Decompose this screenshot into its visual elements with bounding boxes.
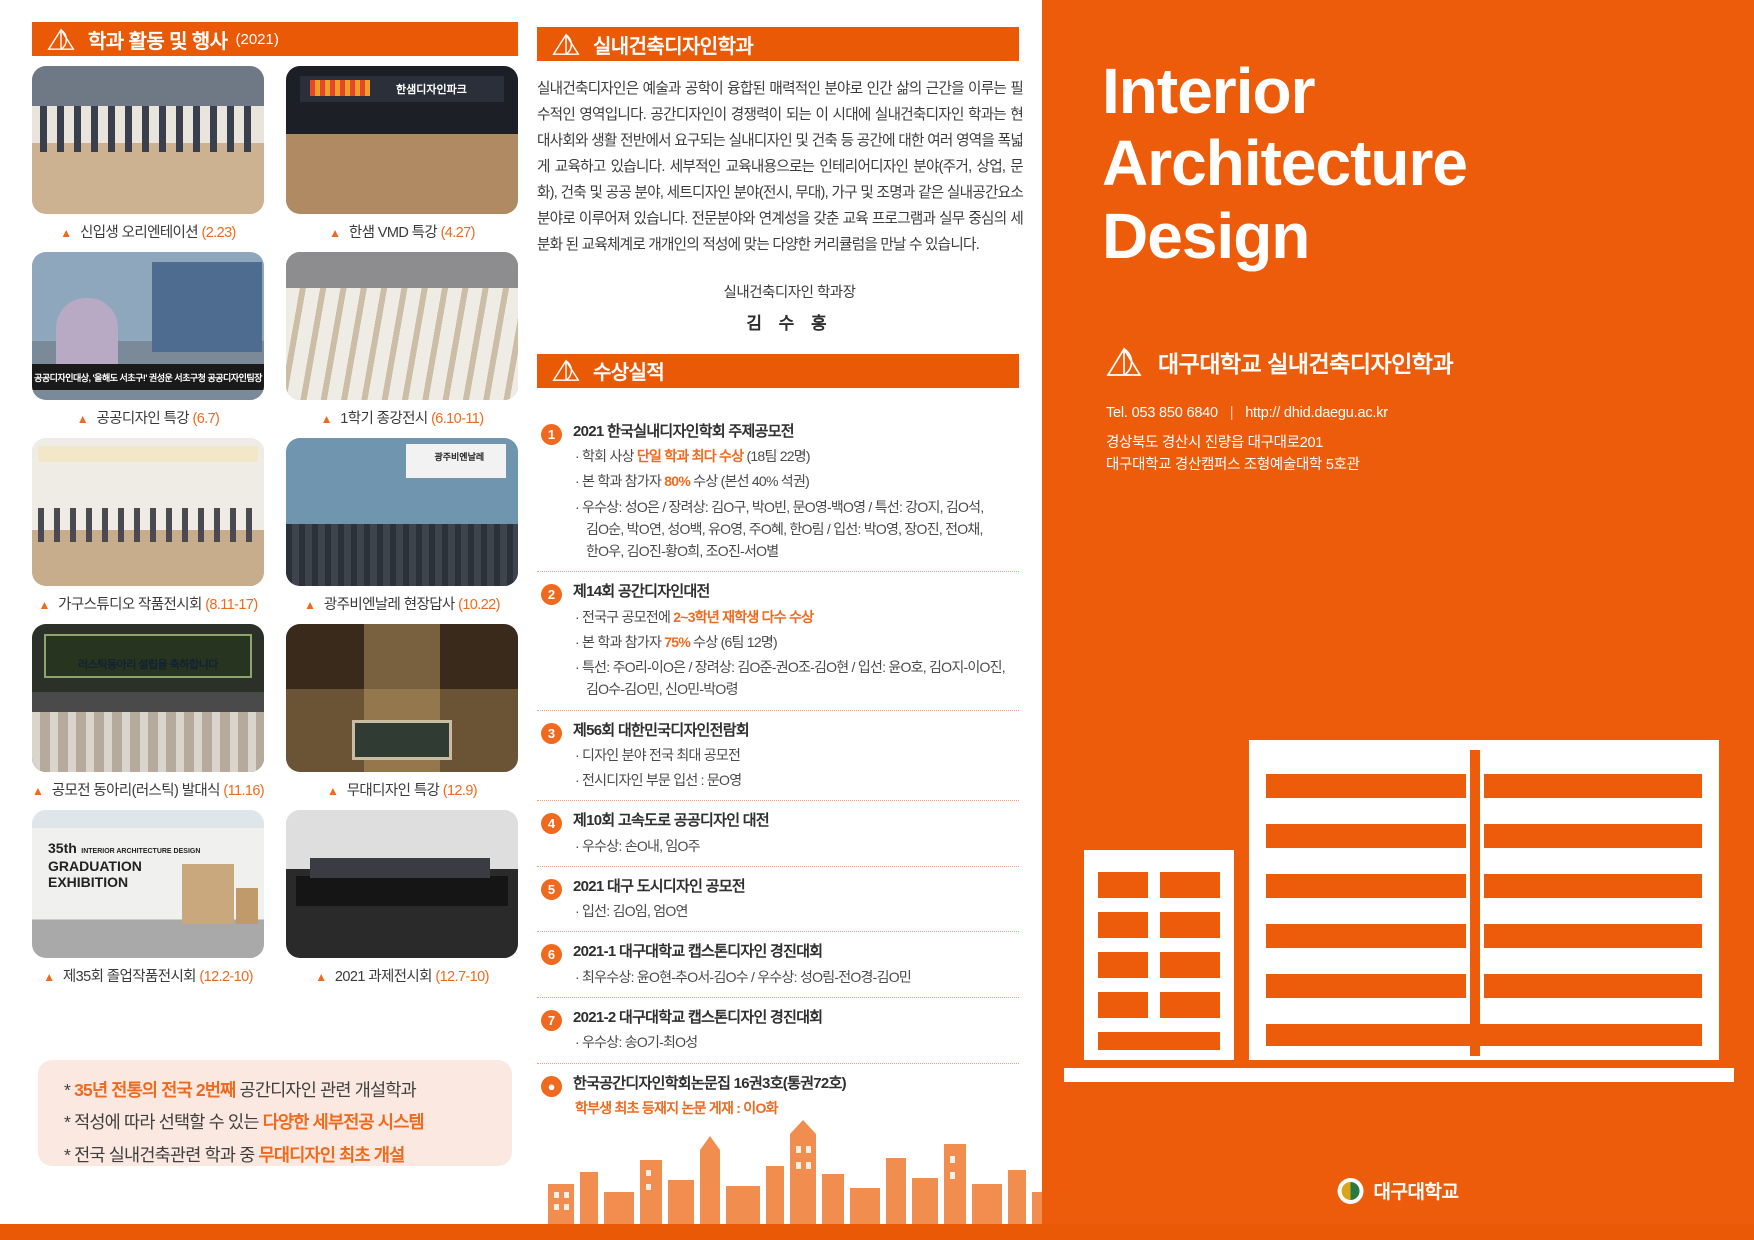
- activity-photo: 광주비엔날레: [286, 438, 518, 586]
- award-text-segment: · 본 학과 참가자: [575, 473, 664, 489]
- award-item: 2 제14회 공간디자인대전 · 전국구 공모전에 2~3학년 재학생 다수 수…: [537, 572, 1019, 710]
- award-text-segment: · 본 학과 참가자: [575, 634, 664, 650]
- activity-caption-text: 공모전 동아리(러스틱) 발대식: [52, 783, 220, 799]
- award-text-segment: (18팀 22명): [743, 448, 810, 464]
- activity-photo: [286, 810, 518, 958]
- award-detail-line: · 우수상: 성O은 / 장려상: 김O구, 박O빈, 문O영-백O영 / 특선…: [573, 497, 1019, 518]
- cover-department-label: 대구대학교 실내건축디자인학과: [1158, 345, 1453, 379]
- awards-header-bar: 수상실적: [537, 354, 1019, 388]
- activity-caption: ▲ 무대디자인 특강 (12.9): [286, 779, 518, 800]
- building-illustration: [1054, 700, 1754, 1120]
- contact-separator: |: [1222, 405, 1242, 421]
- activity-cell: 35th INTERIOR ARCHITECTURE DESIGN GRADUA…: [32, 810, 264, 986]
- award-title: 2021 한국실내디자인학회 주제공모전: [573, 422, 1019, 442]
- award-detail-line: · 디자인 분야 전국 최대 공모전: [573, 745, 1019, 766]
- awards-title: 수상실적: [593, 356, 664, 385]
- award-body: 한국공간디자인학회논문집 16권3호(통권72호) 학부생 최초 등재지 논문 …: [573, 1074, 1019, 1120]
- award-body: 2021-2 대구대학교 캡스톤디자인 경진대회 · 우수상: 송O기-최O성: [573, 1008, 1019, 1054]
- address-line-1: 경상북도 경산시 진량읍 대구대로201: [1106, 432, 1726, 454]
- award-text-segment: · 특선: 주O리-이O은 / 장려상: 김O준-권O조-김O현 / 입선: 윤…: [575, 659, 1005, 675]
- activity-caption-text: 광주비엔날레 현장답사: [324, 597, 455, 613]
- activity-date: (4.27): [441, 225, 475, 241]
- award-text-segment: 2~3학년 재학생 다수 수상: [673, 609, 813, 625]
- activity-cell: ▲ 무대디자인 특강 (12.9): [286, 624, 518, 800]
- award-title: 2021 대구 도시디자인 공모전: [573, 877, 1019, 897]
- triangle-bullet-icon: ▲: [43, 970, 54, 984]
- activity-photo: [32, 66, 264, 214]
- triangle-bullet-icon: ▲: [32, 784, 43, 798]
- cover-title: Interior Architecture Design: [1102, 55, 1722, 272]
- cover-address: 경상북도 경산시 진량읍 대구대로201 대구대학교 경산캠퍼스 조형예술대학 …: [1106, 432, 1726, 477]
- activity-cell: 한샘디자인파크 ▲ 한샘 VMD 특강 (4.27): [286, 66, 518, 242]
- news-overlay-caption: 공공디자인대상, '올해도 서초구!' 권성운 서초구청 공공디자인팀장: [32, 364, 264, 390]
- university-seal-icon: [1338, 1178, 1364, 1204]
- department-intro: 실내건축디자인은 예술과 공학이 융합된 매력적인 분야로 인간 삶의 근간을 …: [537, 77, 1023, 259]
- triangle-bullet-icon: ▲: [38, 598, 49, 612]
- award-text-segment: 수상 (본선 40% 석권): [690, 473, 809, 489]
- awards-list: 1 2021 한국실내디자인학회 주제공모전 · 학회 사상 단일 학과 최다 …: [537, 412, 1019, 1128]
- award-text-segment: · 우수상: 성O은 / 장려상: 김O구, 박O빈, 문O영-백O영 / 특선…: [575, 499, 983, 515]
- cover-panel: Interior Architecture Design 대구대학교 실내건축디…: [1042, 0, 1754, 1240]
- triangle-bullet-icon: ▲: [321, 412, 332, 426]
- activity-date: (6.7): [192, 411, 219, 427]
- award-text-segment: 단일 학과 최다 수상: [637, 448, 743, 464]
- triangle-logo-icon: [551, 33, 581, 56]
- brochure-page: 학과 활동 및 행사 (2021) ▲ 신입생 오리엔테이션 (2.23) 한샘…: [0, 0, 1754, 1240]
- award-detail-line: · 우수상: 손O내, 임O주: [573, 836, 1019, 857]
- award-text-segment: · 입선: 김O임, 엄O연: [575, 903, 688, 919]
- activity-date: (10.22): [458, 597, 500, 613]
- club-banner-text: 러스틱동아리 설립을 축하합니다: [32, 656, 264, 672]
- award-text-segment: · 우수상: 손O내, 임O주: [575, 838, 700, 854]
- triangle-bullet-icon: ▲: [60, 226, 71, 240]
- award-number-badge: 4: [541, 813, 562, 834]
- award-detail-line: · 최우수상: 윤O현-추O서-김O수 / 우수상: 성O림-전O경-김O민: [573, 967, 1019, 988]
- award-title: 제56회 대한민국디자인전람회: [573, 721, 1019, 741]
- award-text-segment: · 학회 사상: [575, 448, 637, 464]
- activity-photo: [32, 438, 264, 586]
- highlight-line: * 35년 전통의 전국 2번째 공간디자인 관련 개설학과: [64, 1074, 502, 1106]
- award-body: 제10회 고속도로 공공디자인 대전 · 우수상: 손O내, 임O주: [573, 811, 1019, 857]
- highlight-line: * 전국 실내건축관련 학과 중 무대디자인 최초 개설: [64, 1139, 502, 1171]
- award-body: 제14회 공간디자인대전 · 전국구 공모전에 2~3학년 재학생 다수 수상·…: [573, 582, 1019, 700]
- highlight-prefix: * 전국 실내건축관련 학과 중: [64, 1145, 259, 1165]
- activity-cell: ▲ 가구스튜디오 작품전시회 (8.11-17): [32, 438, 264, 614]
- triangle-bullet-icon: ▲: [329, 226, 340, 240]
- bottom-accent-strip: [0, 1224, 1754, 1240]
- highlight-line: * 적성에 따라 선택할 수 있는 다양한 세부전공 시스템: [64, 1106, 502, 1138]
- highlights-box: * 35년 전통의 전국 2번째 공간디자인 관련 개설학과* 적성에 따라 선…: [38, 1060, 512, 1166]
- award-number-badge: 2: [541, 584, 562, 605]
- activity-caption-text: 한샘 VMD 특강: [349, 225, 437, 241]
- activity-photo: 한샘디자인파크: [286, 66, 518, 214]
- activity-cell: ▲ 1학기 종강전시 (6.10-11): [286, 252, 518, 428]
- activity-date: (6.10-11): [431, 411, 483, 427]
- cover-title-line-2: Architecture: [1102, 127, 1722, 199]
- activity-caption-text: 공공디자인 특강: [96, 411, 189, 427]
- award-text-segment: 김O순, 박O연, 성O백, 유O영, 주O혜, 한O림 / 입선: 박O영, …: [586, 521, 983, 537]
- activities-year: (2021): [235, 31, 278, 48]
- triangle-bullet-icon: ▲: [327, 784, 338, 798]
- activity-photo: [286, 624, 518, 772]
- activity-caption-text: 가구스튜디오 작품전시회: [58, 597, 202, 613]
- activity-date: (12.2-10): [199, 969, 252, 985]
- triangle-bullet-icon: ▲: [315, 970, 326, 984]
- award-detail-line: · 본 학과 참가자 75% 수상 (6팀 12명): [573, 632, 1019, 653]
- award-detail-line: · 전시디자인 부문 입선 : 문O영: [573, 770, 1019, 791]
- triangle-logo-icon: [1104, 347, 1144, 377]
- activity-caption-text: 제35회 졸업작품전시회: [63, 969, 196, 985]
- award-title: 제10회 고속도로 공공디자인 대전: [573, 811, 1019, 831]
- activity-date: (11.16): [223, 783, 264, 799]
- university-logo: 대구대학교: [1338, 1177, 1459, 1204]
- award-body: 2021 대구 도시디자인 공모전 · 입선: 김O임, 엄O연: [573, 877, 1019, 923]
- award-body: 2021 한국실내디자인학회 주제공모전 · 학회 사상 단일 학과 최다 수상…: [573, 422, 1019, 563]
- highlight-prefix: *: [64, 1080, 74, 1100]
- tel-value: 053 850 6840: [1132, 405, 1218, 421]
- award-number-badge: 5: [541, 879, 562, 900]
- activity-date: (8.11-17): [205, 597, 257, 613]
- award-number-badge: 3: [541, 723, 562, 744]
- tel-label: Tel.: [1106, 405, 1128, 421]
- address-line-2: 대구대학교 경산캠퍼스 조형예술대학 5호관: [1106, 454, 1726, 476]
- activity-caption: ▲ 2021 과제전시회 (12.7-10): [286, 965, 518, 986]
- award-text-segment: · 디자인 분야 전국 최대 공모전: [575, 747, 740, 763]
- award-title: 2021-2 대구대학교 캡스톤디자인 경진대회: [573, 1008, 1019, 1028]
- award-number-badge: ●: [541, 1076, 562, 1097]
- activity-caption-text: 1학기 종강전시: [340, 411, 427, 427]
- highlight-emphasis: 다양한 세부전공 시스템: [263, 1112, 424, 1132]
- activities-header-bar: 학과 활동 및 행사 (2021): [32, 22, 518, 56]
- highlight-prefix: * 적성에 따라 선택할 수 있는: [64, 1112, 263, 1132]
- activity-caption: ▲ 1학기 종강전시 (6.10-11): [286, 407, 518, 428]
- award-detail-line: · 입선: 김O임, 엄O연: [573, 901, 1019, 922]
- award-title: 제14회 공간디자인대전: [573, 582, 1019, 602]
- dean-role: 실내건축디자인 학과장: [537, 281, 1042, 302]
- award-number-badge: 1: [541, 424, 562, 445]
- award-text-segment: · 최우수상: 윤O현-추O서-김O수 / 우수상: 성O림-전O경-김O민: [575, 969, 911, 985]
- activity-photo: 공공디자인대상, '올해도 서초구!' 권성운 서초구청 공공디자인팀장: [32, 252, 264, 400]
- activity-cell: 러스틱동아리 설립을 축하합니다 ▲ 공모전 동아리(러스틱) 발대식 (11.…: [32, 624, 264, 800]
- dean-signature: 실내건축디자인 학과장 김 수 홍: [537, 281, 1042, 334]
- biennale-sign-text: 광주비엔날레: [434, 450, 484, 463]
- triangle-bullet-icon: ▲: [77, 412, 88, 426]
- activity-date: (12.7-10): [435, 969, 488, 985]
- activity-caption: ▲ 광주비엔날레 현장답사 (10.22): [286, 593, 518, 614]
- activity-caption: ▲ 신입생 오리엔테이션 (2.23): [32, 221, 264, 242]
- award-detail-line: · 학회 사상 단일 학과 최다 수상 (18팀 22명): [573, 446, 1019, 467]
- activity-photo: 러스틱동아리 설립을 축하합니다: [32, 624, 264, 772]
- award-detail-line: 김O순, 박O연, 성O백, 유O영, 주O혜, 한O림 / 입선: 박O영, …: [573, 519, 1019, 540]
- award-body: 제56회 대한민국디자인전람회 · 디자인 분야 전국 최대 공모전· 전시디자…: [573, 721, 1019, 792]
- activity-caption-text: 2021 과제전시회: [335, 969, 432, 985]
- activity-photo: [286, 252, 518, 400]
- award-text-segment: 김O수-김O민, 신O민-박O령: [586, 681, 738, 697]
- department-column: 실내건축디자인학과 실내건축디자인은 예술과 공학이 융합된 매력적인 분야로 …: [537, 0, 1042, 1240]
- activity-date: (12.9): [443, 783, 477, 799]
- activities-column: 학과 활동 및 행사 (2021) ▲ 신입생 오리엔테이션 (2.23) 한샘…: [0, 0, 545, 1180]
- award-text-segment: 80%: [664, 473, 690, 489]
- award-detail-line: 김O수-김O민, 신O민-박O령: [573, 679, 1019, 700]
- activity-caption: ▲ 제35회 졸업작품전시회 (12.2-10): [32, 965, 264, 986]
- activities-title: 학과 활동 및 행사: [88, 25, 227, 54]
- activity-cell: 광주비엔날레 ▲ 광주비엔날레 현장답사 (10.22): [286, 438, 518, 614]
- triangle-logo-icon: [551, 359, 581, 382]
- cover-title-line-3: Design: [1102, 200, 1722, 272]
- award-text-segment: · 전국구 공모전에: [575, 609, 673, 625]
- dean-name: 김 수 홍: [537, 309, 1042, 334]
- award-detail-line: · 전국구 공모전에 2~3학년 재학생 다수 수상: [573, 607, 1019, 628]
- cover-title-line-1: Interior: [1102, 55, 1722, 127]
- activity-caption: ▲ 공공디자인 특강 (6.7): [32, 407, 264, 428]
- award-detail-line: · 본 학과 참가자 80% 수상 (본선 40% 석권): [573, 471, 1019, 492]
- activity-date: (2.23): [201, 225, 235, 241]
- award-text-segment: 수상 (6팀 12명): [690, 634, 777, 650]
- award-detail-line: · 특선: 주O리-이O은 / 장려상: 김O준-권O조-김O현 / 입선: 윤…: [573, 657, 1019, 678]
- award-item: 7 2021-2 대구대학교 캡스톤디자인 경진대회 · 우수상: 송O기-최O…: [537, 998, 1019, 1064]
- award-detail-line: 한O우, 김O진-황O희, 조O진-서O별: [573, 541, 1019, 562]
- activity-caption: ▲ 공모전 동아리(러스틱) 발대식 (11.16): [32, 779, 264, 800]
- activities-photo-grid: ▲ 신입생 오리엔테이션 (2.23) 한샘디자인파크 ▲ 한샘 VMD 특강 …: [32, 66, 518, 986]
- graduation-wall-text: 35th INTERIOR ARCHITECTURE DESIGN GRADUA…: [48, 840, 200, 891]
- award-title: 한국공간디자인학회논문집 16권3호(통권72호): [573, 1074, 1019, 1094]
- activity-caption: ▲ 가구스튜디오 작품전시회 (8.11-17): [32, 593, 264, 614]
- activity-cell: 공공디자인대상, '올해도 서초구!' 권성운 서초구청 공공디자인팀장 ▲ 공…: [32, 252, 264, 428]
- award-item: 1 2021 한국실내디자인학회 주제공모전 · 학회 사상 단일 학과 최다 …: [537, 412, 1019, 573]
- activity-caption-text: 무대디자인 특강: [347, 783, 440, 799]
- award-text-segment: 한O우, 김O진-황O희, 조O진-서O별: [586, 543, 778, 559]
- award-item: 6 2021-1 대구대학교 캡스톤디자인 경진대회 · 최우수상: 윤O현-추…: [537, 932, 1019, 998]
- activity-cell: ▲ 신입생 오리엔테이션 (2.23): [32, 66, 264, 242]
- award-text-segment: · 전시디자인 부문 입선 : 문O영: [575, 772, 741, 788]
- university-name: 대구대학교: [1374, 1177, 1459, 1204]
- activity-caption: ▲ 한샘 VMD 특강 (4.27): [286, 221, 518, 242]
- cover-department: 대구대학교 실내건축디자인학과: [1104, 345, 1704, 379]
- award-number-badge: 7: [541, 1010, 562, 1031]
- award-title: 2021-1 대구대학교 캡스톤디자인 경진대회: [573, 942, 1019, 962]
- highlight-emphasis: 무대디자인 최초 개설: [259, 1145, 405, 1165]
- award-body: 2021-1 대구대학교 캡스톤디자인 경진대회 · 최우수상: 윤O현-추O서…: [573, 942, 1019, 988]
- award-item: 5 2021 대구 도시디자인 공모전 · 입선: 김O임, 엄O연: [537, 867, 1019, 933]
- award-text-segment: 75%: [664, 634, 690, 650]
- award-detail-line: · 우수상: 송O기-최O성: [573, 1032, 1019, 1053]
- skyline-decoration: [540, 1114, 1060, 1224]
- activity-caption-text: 신입생 오리엔테이션: [80, 225, 198, 241]
- triangle-bullet-icon: ▲: [304, 598, 315, 612]
- activity-photo: 35th INTERIOR ARCHITECTURE DESIGN GRADUA…: [32, 810, 264, 958]
- department-header-bar: 실내건축디자인학과: [537, 27, 1019, 61]
- department-title: 실내건축디자인학과: [593, 30, 753, 59]
- award-text-segment: · 우수상: 송O기-최O성: [575, 1034, 697, 1050]
- website-url[interactable]: http:// dhid.daegu.ac.kr: [1245, 405, 1388, 421]
- activity-cell: ▲ 2021 과제전시회 (12.7-10): [286, 810, 518, 986]
- award-number-badge: 6: [541, 944, 562, 965]
- award-item: 4 제10회 고속도로 공공디자인 대전 · 우수상: 손O내, 임O주: [537, 801, 1019, 867]
- award-item: 3 제56회 대한민국디자인전람회 · 디자인 분야 전국 최대 공모전· 전시…: [537, 711, 1019, 802]
- triangle-logo-icon: [46, 28, 76, 51]
- highlight-suffix: 공간디자인 관련 개설학과: [235, 1080, 416, 1100]
- highlight-emphasis: 35년 전통의 전국 2번째: [74, 1080, 235, 1100]
- cover-contact: Tel. 053 850 6840 | http:// dhid.daegu.a…: [1106, 400, 1726, 427]
